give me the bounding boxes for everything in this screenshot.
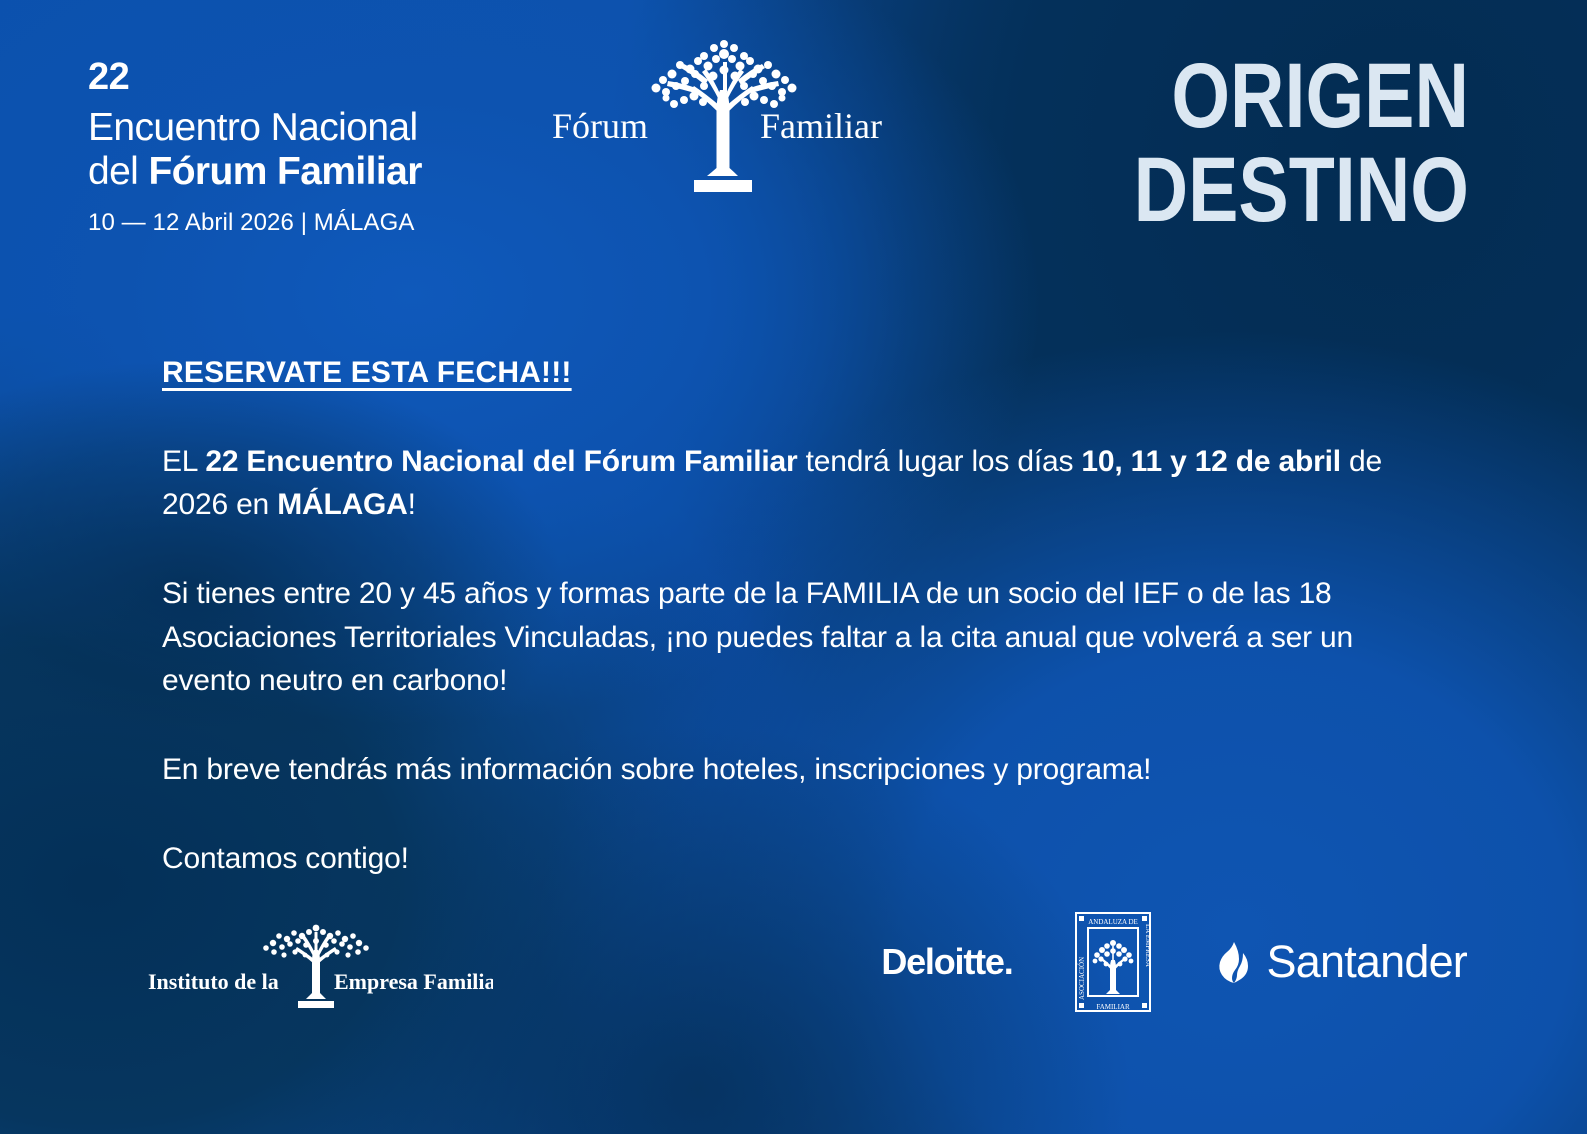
ief-logo: Instituto de la Empresa Familiar [148, 919, 493, 1014]
forum-logo-word-right: Familiar [760, 106, 882, 146]
event-dates-location: 10 — 12 Abril 2026 | MÁLAGA [88, 209, 518, 237]
intro-seg-1: EL [162, 445, 205, 478]
poster-footer: Instituto de la Empresa Familiar Deloitt… [0, 904, 1587, 1134]
save-the-date-headline: RESERVATE ESTA FECHA!!! [162, 356, 1432, 390]
poster-header: 22 Encuentro Nacional del Fórum Familiar… [0, 0, 1587, 285]
intro-seg-4-bold: 10, 11 y 12 de abril [1081, 445, 1341, 478]
santander-wordmark: Santander [1267, 936, 1467, 988]
santander-logo: Santander [1213, 936, 1467, 988]
santander-flame-icon [1213, 940, 1255, 984]
aaef-top-text: ANDALUZA DE [1088, 918, 1138, 926]
edition-number: 22 [88, 58, 518, 96]
theme-word-origen: ORIGEN [1134, 52, 1469, 140]
event-title-line-1: Encuentro Nacional [88, 106, 518, 150]
paragraph-closing: Contamos contigo! [162, 837, 1432, 880]
event-title-block: 22 Encuentro Nacional del Fórum Familiar… [88, 58, 518, 237]
intro-seg-2-bold: 22 Encuentro Nacional del Fórum Familiar [205, 445, 797, 478]
intro-seg-3: tendrá lugar los días [797, 445, 1081, 478]
theme-headline: ORIGEN DESTINO [1060, 52, 1469, 235]
aaef-right-text: LA EMPRESA [1144, 924, 1151, 967]
olive-tree-icon [1092, 940, 1133, 994]
event-poster: 22 Encuentro Nacional del Fórum Familiar… [0, 0, 1587, 1134]
paragraph-more-info: En breve tendrás más información sobre h… [162, 748, 1432, 791]
forum-familiar-logo: Fórum Familiar [548, 36, 898, 206]
event-title-line-2-bold: Fórum Familiar [148, 150, 421, 193]
olive-tree-icon [263, 925, 369, 1008]
ief-logo-text-left: Instituto de la [148, 969, 279, 994]
forum-logo-word-left: Fórum [552, 106, 648, 146]
intro-seg-6-bold: MÁLAGA [277, 488, 407, 521]
event-title-line-2-prefix: del [88, 150, 148, 193]
paragraph-intro: EL 22 Encuentro Nacional del Fórum Famil… [162, 440, 1417, 526]
intro-seg-7: ! [408, 488, 416, 521]
sponsor-logos: Deloitte. ANDALUZA DE FAMILIAR ASOCIACIÓ… [881, 912, 1467, 1012]
theme-word-destino: DESTINO [1134, 146, 1469, 234]
paragraph-eligibility: Si tienes entre 20 y 45 años y formas pa… [162, 572, 1417, 702]
aaef-left-text: ASOCIACIÓN [1078, 957, 1086, 1000]
poster-body: RESERVATE ESTA FECHA!!! EL 22 Encuentro … [162, 356, 1432, 880]
deloitte-wordmark: Deloitte. [881, 941, 1012, 983]
aaef-badge-icon: ANDALUZA DE FAMILIAR ASOCIACIÓN LA EMPRE… [1075, 912, 1151, 1012]
event-title-line-2: del Fórum Familiar [88, 150, 518, 194]
ief-logo-text-right: Empresa Familiar [334, 969, 493, 994]
aaef-bottom-text: FAMILIAR [1096, 1003, 1130, 1011]
